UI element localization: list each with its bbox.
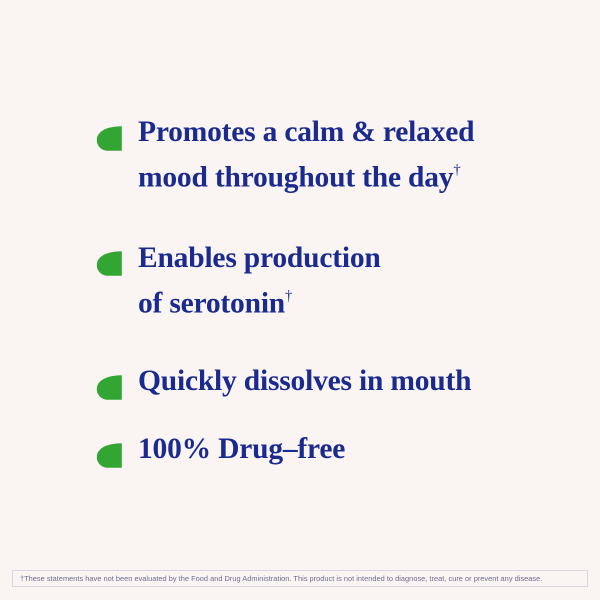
benefit-line-text: mood throughout the day xyxy=(138,162,453,194)
benefit-line: mood throughout the day† xyxy=(138,151,474,197)
benefit-line-text: of serotonin xyxy=(138,287,285,319)
benefit-line: 100% Drug–free xyxy=(138,430,345,468)
benefit-line: Quickly dissolves in mouth xyxy=(138,362,471,400)
benefits-list: Promotes a calm & relaxed mood throughou… xyxy=(96,113,566,470)
benefit-text: Quickly dissolves in mouth xyxy=(138,362,471,400)
product-benefits-panel: Promotes a calm & relaxed mood throughou… xyxy=(0,0,600,600)
benefit-item: Promotes a calm & relaxed mood throughou… xyxy=(96,113,566,197)
leaf-icon xyxy=(96,113,138,153)
benefit-line: Promotes a calm & relaxed xyxy=(138,113,474,151)
benefit-item: Quickly dissolves in mouth xyxy=(96,362,566,402)
leaf-icon xyxy=(96,239,138,279)
leaf-icon xyxy=(96,430,138,470)
footnote-disclaimer: †These statements have not been evaluate… xyxy=(12,570,588,587)
leaf-icon xyxy=(96,362,138,402)
benefit-text: Promotes a calm & relaxed mood throughou… xyxy=(138,113,474,197)
benefit-text: 100% Drug–free xyxy=(138,430,345,468)
benefit-item: 100% Drug–free xyxy=(96,430,566,470)
footnote-marker: † xyxy=(453,162,460,178)
footnote-text: †These statements have not been evaluate… xyxy=(13,574,542,583)
footnote-marker: † xyxy=(285,288,292,304)
benefit-line: Enables production xyxy=(138,239,381,277)
benefit-item: Enables production of serotonin† xyxy=(96,239,566,323)
benefit-line: of serotonin† xyxy=(138,277,381,323)
benefit-text: Enables production of serotonin† xyxy=(138,239,381,323)
